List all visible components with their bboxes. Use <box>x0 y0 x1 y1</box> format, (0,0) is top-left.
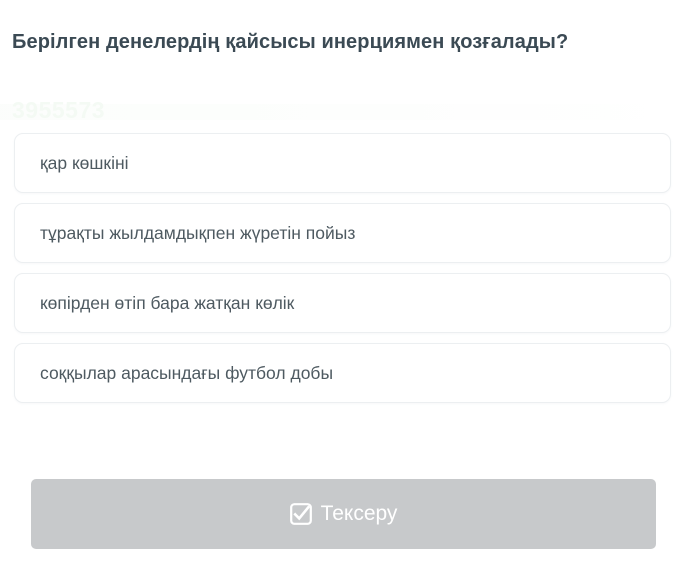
watermark-id: 3955573 <box>12 98 105 122</box>
option-label: тұрақты жылдамдықпен жүретін пойыз <box>40 221 355 245</box>
option-label: көпірден өтіп бара жатқан көлік <box>40 291 294 315</box>
option-card-4[interactable]: соққылар арасындағы футбол добы <box>14 343 671 403</box>
check-answer-label: Тексеру <box>321 502 398 526</box>
option-card-2[interactable]: тұрақты жылдамдықпен жүретін пойыз <box>14 203 671 263</box>
option-card-3[interactable]: көпірден өтіп бара жатқан көлік <box>14 273 671 333</box>
options-list: қар көшкіні тұрақты жылдамдықпен жүретін… <box>14 133 671 413</box>
check-answer-button[interactable]: Тексеру <box>31 479 656 549</box>
option-label: соққылар арасындағы футбол добы <box>40 361 333 385</box>
option-label: қар көшкіні <box>40 151 129 175</box>
quiz-page: Берілген денелердің қайсысы инерциямен қ… <box>0 0 686 585</box>
checkbox-checked-icon <box>290 503 312 525</box>
option-card-1[interactable]: қар көшкіні <box>14 133 671 193</box>
question-title: Берілген денелердің қайсысы инерциямен қ… <box>12 28 642 57</box>
